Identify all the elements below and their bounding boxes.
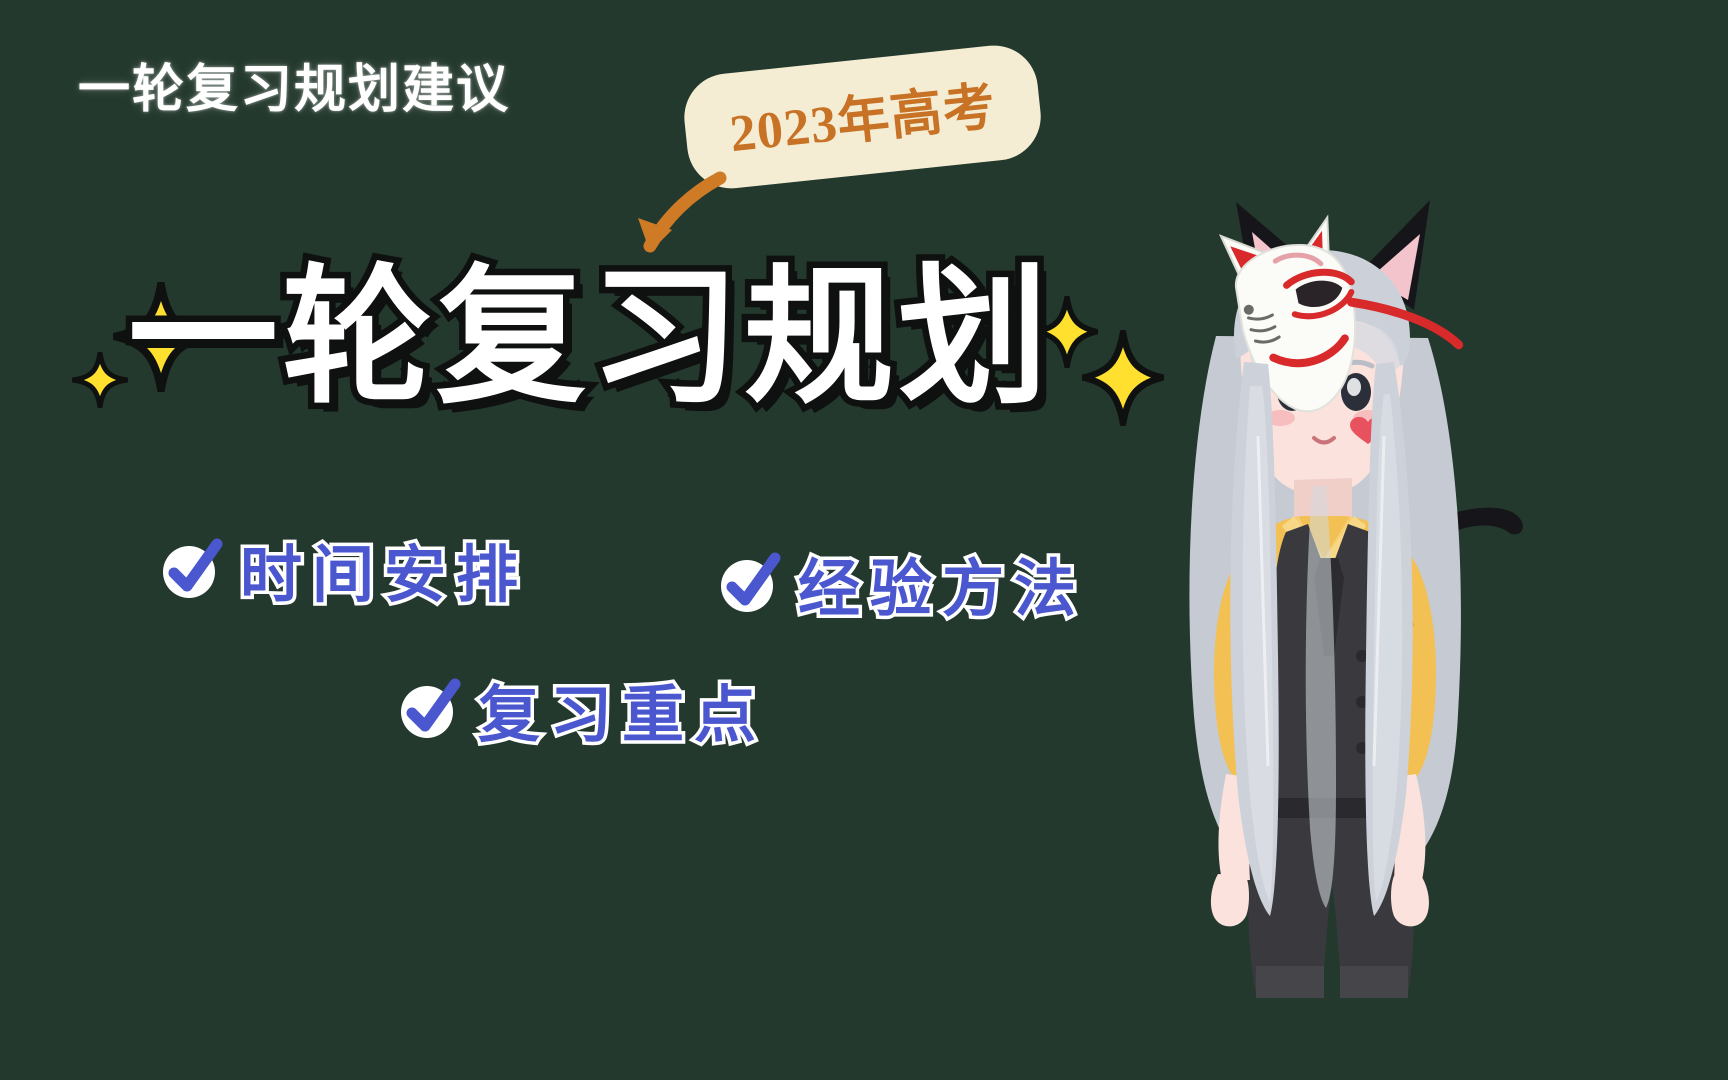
check-circle-icon <box>398 678 460 740</box>
anime-vtuber-avatar <box>1098 186 1528 1080</box>
year-badge-label: 2023年高考 <box>680 41 1045 192</box>
main-title-row: 一轮复习规划 <box>0 262 1180 412</box>
check-circle-icon <box>718 552 780 614</box>
checklist-item-label: 经验方法 <box>798 538 1086 628</box>
year-badge: 2023年高考 <box>680 41 1045 192</box>
check-circle-icon <box>160 538 222 600</box>
checklist-item-label: 复习重点 <box>478 664 766 754</box>
page-subtitle: 一轮复习规划建议 <box>78 62 510 119</box>
checklist-item-experience-method[interactable]: 经验方法 <box>718 538 1086 628</box>
poster-canvas: 一轮复习规划建议 2023年高考 一轮复习规划 <box>0 0 1728 1080</box>
hand-left <box>1211 874 1249 926</box>
hand-right <box>1391 874 1429 926</box>
checklist-item-label: 时间安排 <box>240 524 528 614</box>
checklist-item-time-arrangement[interactable]: 时间安排 <box>160 524 528 614</box>
cat-tail-icon <box>1450 508 1523 535</box>
checklist-item-review-key-points[interactable]: 复习重点 <box>398 664 766 754</box>
page-title: 一轮复习规划 <box>128 262 1052 412</box>
